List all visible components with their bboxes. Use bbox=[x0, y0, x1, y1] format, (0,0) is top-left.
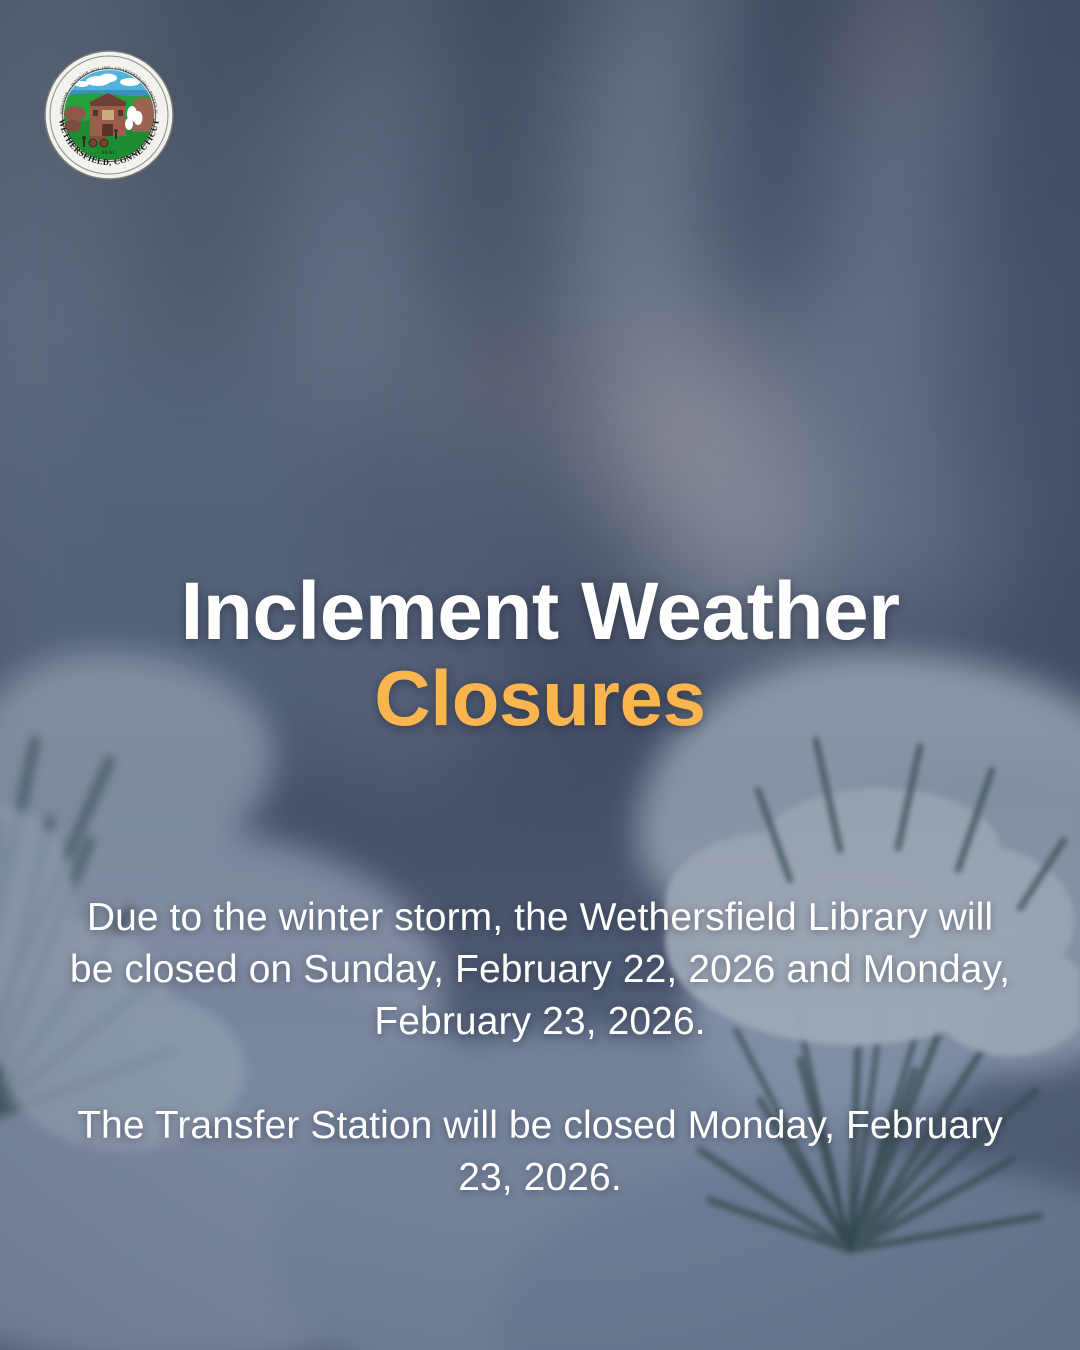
seal-center-label: SEAL bbox=[102, 151, 117, 156]
announcement-body: Due to the winter storm, the Wethersfiel… bbox=[60, 892, 1020, 1204]
headline-line-accent: Closures bbox=[0, 660, 1080, 736]
town-seal-icon: SEAL WETHERSFIELD, CONNECTICUT PORT — DI… bbox=[42, 48, 176, 182]
inclement-weather-closure-poster: SEAL WETHERSFIELD, CONNECTICUT PORT — DI… bbox=[0, 0, 1080, 1350]
paragraph-spacer bbox=[60, 1048, 1020, 1100]
announcement-paragraph-library: Due to the winter storm, the Wethersfiel… bbox=[60, 892, 1020, 1048]
headline-line-primary: Inclement Weather bbox=[0, 572, 1080, 652]
headline-block: Inclement Weather Closures bbox=[0, 572, 1080, 737]
town-seal-logo: SEAL WETHERSFIELD, CONNECTICUT PORT — DI… bbox=[42, 48, 176, 182]
announcement-paragraph-transfer-station: The Transfer Station will be closed Mond… bbox=[60, 1100, 1020, 1204]
